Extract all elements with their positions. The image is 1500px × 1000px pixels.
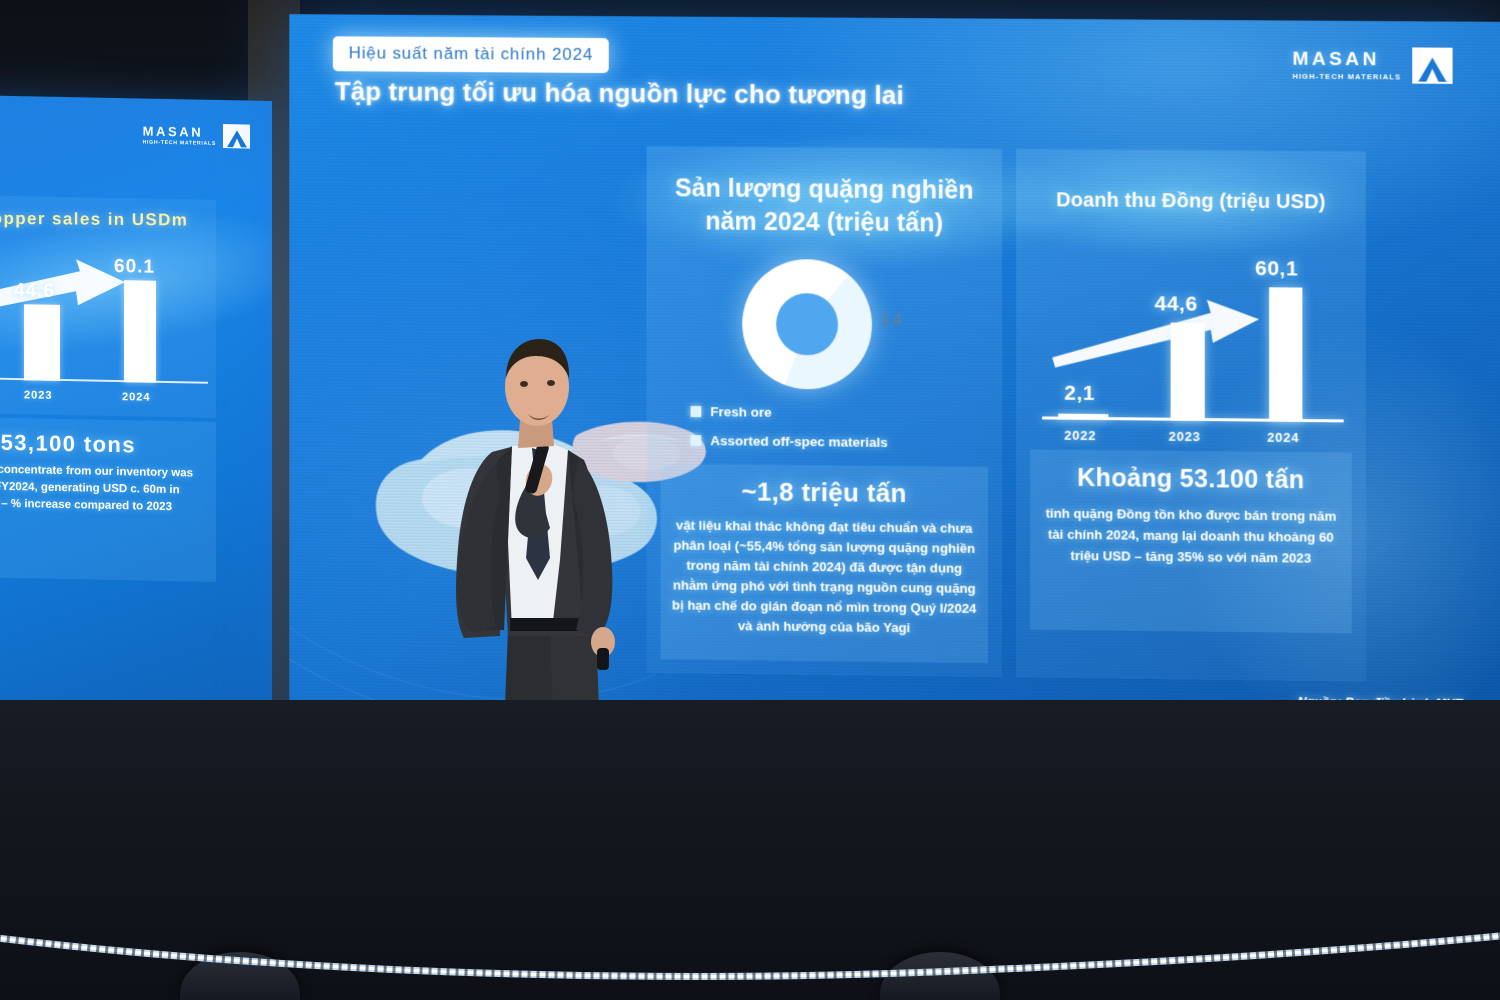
donut-chart: 1,4: [742, 259, 872, 390]
side-body-text: Copper concentrate from our inventory wa…: [0, 461, 216, 517]
side-bar-chart: 2,1 44.6 60.1 2022 2023 2024: [0, 244, 220, 410]
side-bar-2024: [124, 280, 156, 383]
triangle-arrow-icon: [223, 124, 250, 149]
legend-item: Assorted off-spec materials: [690, 433, 887, 450]
logo-tagline: HIGH-TECH MATERIALS: [1292, 71, 1401, 81]
legend-item: Fresh ore: [690, 404, 887, 421]
bar-label-2024: 60,1: [1255, 257, 1298, 281]
side-value-2024: 60.1: [114, 256, 155, 279]
logo-wordmark: MASAN: [1292, 49, 1401, 69]
panel-right-title: Doanh thu Đồng (triệu USD): [1016, 189, 1366, 215]
bar-label-2022: 2,1: [1064, 382, 1095, 406]
side-bar-2023: [24, 304, 60, 381]
side-chart-title: Copper sales in USDm: [0, 209, 228, 231]
side-year-2023: 2023: [24, 389, 52, 402]
bar-2024: [1269, 287, 1302, 422]
side-logo-wordmark: MASAN: [143, 124, 216, 138]
panel-left-body: vật liệu khai thác không đạt tiêu chuẩn …: [668, 516, 980, 640]
legend-label: Fresh ore: [710, 404, 771, 420]
legend-label: Assorted off-spec materials: [710, 433, 887, 450]
side-screen-logo: MASAN HIGH-TECH MATERIALS: [143, 123, 250, 149]
panel-copper-revenue: Doanh thu Đồng (triệu USD) 2,1 44,6 60,1…: [1016, 149, 1366, 682]
revenue-bar-chart: 2,1 44,6 60,1 2022 2023 2024: [1042, 231, 1344, 422]
side-year-2024: 2024: [122, 391, 150, 404]
side-led-screen: MASAN HIGH-TECH MATERIALS Copper sales i…: [0, 95, 272, 723]
panel-right-highlight: Khoảng 53.100 tấn: [1016, 463, 1366, 496]
bar-2023: [1171, 323, 1205, 422]
side-highlight: c. 53,100 tons: [0, 429, 222, 460]
section-badge: Hiệu suất năm tài chính 2024: [333, 36, 609, 73]
stage-led-strip: [0, 930, 1500, 990]
panel-left-title: Sản lượng quặng nghiền năm 2024 (triệu t…: [647, 172, 1002, 240]
side-value-2023: 44.6: [14, 280, 55, 303]
donut-ring: [742, 259, 872, 390]
axis-label-2022: 2022: [1064, 428, 1096, 443]
axis-label-2023: 2023: [1169, 429, 1201, 444]
page-title: Tập trung tối ưu hóa nguồn lực cho tương…: [335, 76, 904, 111]
stage-scene: MASAN HIGH-TECH MATERIALS Copper sales i…: [0, 0, 1500, 1000]
panel-right-body: tinh quặng Đồng tồn kho được bán trong n…: [1044, 504, 1337, 570]
donut-value-label: 1,4: [880, 312, 902, 330]
main-screen-logo: MASAN HIGH-TECH MATERIALS: [1292, 47, 1452, 84]
donut-legend: Fresh ore Assorted off-spec materials: [690, 404, 887, 464]
side-logo-tagline: HIGH-TECH MATERIALS: [143, 139, 216, 146]
axis-label-2024: 2024: [1267, 430, 1299, 445]
bar-2022: [1058, 414, 1108, 421]
triangle-arrow-icon: [1412, 47, 1452, 83]
bar-label-2023: 44,6: [1155, 292, 1198, 316]
